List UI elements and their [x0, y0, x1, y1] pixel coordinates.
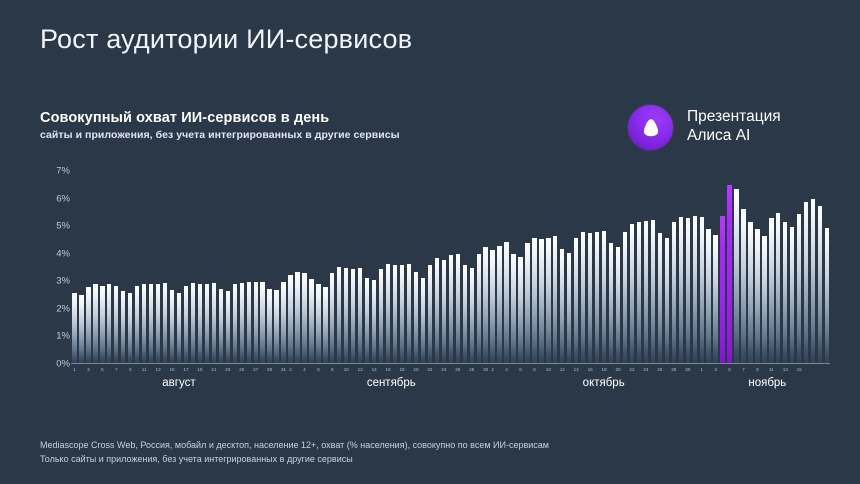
bar-slot[interactable] [740, 170, 747, 363]
bar[interactable] [693, 216, 697, 364]
bar[interactable] [497, 246, 501, 363]
bar-slot[interactable] [419, 170, 426, 363]
bar-slot[interactable] [712, 170, 719, 363]
bar-slot[interactable] [587, 170, 594, 363]
bar[interactable] [588, 233, 592, 363]
x-axis-tick [461, 366, 468, 376]
bar-slot[interactable] [378, 170, 385, 363]
bar[interactable] [219, 289, 223, 363]
bar-slot[interactable] [468, 170, 475, 363]
bar[interactable] [748, 222, 752, 363]
bar[interactable] [797, 214, 801, 363]
bar-slot[interactable] [461, 170, 468, 363]
bar[interactable] [804, 202, 808, 363]
x-axis-tick [747, 366, 754, 376]
bar-slot[interactable] [169, 170, 176, 363]
x-axis-tick: 2 [489, 366, 496, 376]
bar[interactable] [198, 284, 202, 363]
bar-slot[interactable] [273, 170, 280, 363]
bar-slot[interactable] [210, 170, 217, 363]
bar-slot[interactable] [503, 170, 510, 363]
bar[interactable] [755, 229, 759, 363]
bar-slot[interactable] [663, 170, 670, 363]
bar[interactable] [344, 268, 348, 363]
bar[interactable] [776, 213, 780, 363]
x-axis-tick [733, 366, 740, 376]
bar-slot[interactable] [134, 170, 141, 363]
alice-ai-logo-icon [628, 105, 673, 150]
bar-slot[interactable] [364, 170, 371, 363]
chart-heading: Совокупный охват ИИ-сервисов в день сайт… [40, 110, 400, 141]
bar[interactable] [630, 224, 634, 363]
footer-line-1: Mediascope Cross Web, Россия, мобайл и д… [40, 438, 549, 452]
bar[interactable] [435, 258, 439, 363]
bar[interactable] [734, 189, 738, 363]
x-axis-tick [677, 366, 684, 376]
bar-slot[interactable] [399, 170, 406, 363]
bar[interactable] [309, 279, 313, 363]
bar-slot[interactable] [580, 170, 587, 363]
bar-slot[interactable] [350, 170, 357, 363]
x-axis-tick: 29 [266, 366, 273, 376]
bar[interactable] [226, 291, 230, 363]
bar-slot[interactable] [127, 170, 134, 363]
x-axis-tick: 27 [252, 366, 259, 376]
bar-slot[interactable] [698, 170, 705, 363]
bar[interactable] [602, 231, 606, 363]
bar-slot[interactable] [649, 170, 656, 363]
bar[interactable] [483, 247, 487, 363]
x-axis-tick: 2 [287, 366, 294, 376]
bar[interactable] [72, 293, 76, 363]
x-axis-tick: 25 [238, 366, 245, 376]
bar-slot[interactable] [266, 170, 273, 363]
bar-slot[interactable] [782, 170, 789, 363]
bar-slot[interactable] [440, 170, 447, 363]
bar[interactable] [567, 253, 571, 363]
x-axis-tick: 9 [754, 366, 761, 376]
bar[interactable] [274, 290, 278, 363]
bar-slot[interactable] [196, 170, 203, 363]
bar-slot[interactable] [559, 170, 566, 363]
bar[interactable] [170, 290, 174, 363]
bar[interactable] [267, 289, 271, 363]
bar-slot[interactable] [252, 170, 259, 363]
legend-label-line2: Алиса AI [687, 126, 781, 145]
bar[interactable] [107, 284, 111, 363]
bar-slot[interactable] [608, 170, 615, 363]
bar[interactable] [135, 286, 139, 363]
bar-slot[interactable] [691, 170, 698, 363]
bar[interactable] [400, 265, 404, 363]
bar[interactable] [247, 282, 251, 363]
x-axis-tick [134, 366, 141, 376]
bar[interactable] [637, 222, 641, 363]
bar[interactable] [254, 282, 258, 363]
bar-slot[interactable] [524, 170, 531, 363]
x-axis-tick: 18 [601, 366, 608, 376]
x-axis-tick [622, 366, 629, 376]
bar-slot[interactable] [538, 170, 545, 363]
x-axis-tick [217, 366, 224, 376]
bar[interactable] [121, 291, 125, 363]
x-axis-tick: 5 [99, 366, 106, 376]
x-axis-tick [705, 366, 712, 376]
bar[interactable] [825, 228, 829, 363]
bar-slot[interactable] [622, 170, 629, 363]
bar-slot[interactable] [343, 170, 350, 363]
x-axis-tick [350, 366, 357, 376]
x-axis-tick: 13 [782, 366, 789, 376]
x-axis-line [71, 363, 830, 364]
bar[interactable] [205, 284, 209, 363]
x-axis-tick [635, 366, 642, 376]
bar[interactable] [679, 217, 683, 363]
month-label: октябрь [583, 377, 625, 389]
bar[interactable] [490, 250, 494, 363]
bar[interactable] [260, 282, 264, 363]
bar-slot[interactable] [224, 170, 231, 363]
bar[interactable] [365, 278, 369, 363]
bar[interactable] [790, 227, 794, 363]
x-axis-tick: 4 [503, 366, 510, 376]
bar-slot[interactable] [517, 170, 524, 363]
x-axis-tick [524, 366, 531, 376]
bar-slot[interactable] [183, 170, 190, 363]
bar[interactable] [456, 254, 460, 363]
x-axis-tick: 11 [141, 366, 148, 376]
x-axis-tick: 22 [426, 366, 433, 376]
bar-slot[interactable] [329, 170, 336, 363]
x-axis-tick [803, 366, 810, 376]
bar[interactable] [302, 273, 306, 363]
bar[interactable] [665, 238, 669, 363]
bar[interactable] [623, 232, 627, 363]
bar[interactable] [212, 283, 216, 363]
x-axis-tick: 11 [768, 366, 775, 376]
bar-slot[interactable] [162, 170, 169, 363]
bar[interactable] [316, 284, 320, 363]
bar-slot[interactable] [71, 170, 78, 363]
bar-slot[interactable] [656, 170, 663, 363]
bar-slot[interactable] [552, 170, 559, 363]
bar-slot[interactable] [496, 170, 503, 363]
bar-slot[interactable] [315, 170, 322, 363]
bar-slot[interactable] [635, 170, 642, 363]
bar[interactable] [644, 221, 648, 363]
bar-slot[interactable] [726, 170, 733, 363]
bar[interactable] [546, 238, 550, 363]
bar-slot[interactable] [371, 170, 378, 363]
bar[interactable] [281, 282, 285, 363]
bar-slot[interactable] [231, 170, 238, 363]
bar-slot[interactable] [566, 170, 573, 363]
x-axis-tick [203, 366, 210, 376]
bar-slot[interactable] [357, 170, 364, 363]
bar-slot[interactable] [824, 170, 831, 363]
bar[interactable] [358, 268, 362, 363]
bar-slot[interactable] [573, 170, 580, 363]
bar-slot[interactable] [677, 170, 684, 363]
y-axis-tick: 0% [56, 359, 70, 370]
x-axis-tick: 28 [468, 366, 475, 376]
x-axis-tick: 30 [684, 366, 691, 376]
bar-slot[interactable] [761, 170, 768, 363]
x-axis-tick: 19 [196, 366, 203, 376]
bar[interactable] [337, 267, 341, 364]
bar-slot[interactable] [294, 170, 301, 363]
bar[interactable] [672, 222, 676, 363]
bar-slot[interactable] [155, 170, 162, 363]
bar-slot[interactable] [85, 170, 92, 363]
bar[interactable] [114, 286, 118, 363]
bar[interactable] [379, 269, 383, 363]
bar-slot[interactable] [308, 170, 315, 363]
bar-slot[interactable] [684, 170, 691, 363]
bar[interactable] [706, 229, 710, 363]
bar[interactable] [372, 280, 376, 363]
bar-slot[interactable] [287, 170, 294, 363]
bar[interactable] [581, 232, 585, 363]
x-axis-tick: 26 [454, 366, 461, 376]
x-axis-tick [148, 366, 155, 376]
bar-slot[interactable] [817, 170, 824, 363]
bar-slot[interactable] [733, 170, 740, 363]
x-axis-tick [294, 366, 301, 376]
x-axis-tick: 12 [559, 366, 566, 376]
bar[interactable] [616, 247, 620, 363]
bar[interactable] [233, 284, 237, 363]
x-axis-tick [259, 366, 266, 376]
bar-slot[interactable] [238, 170, 245, 363]
bar-slot[interactable] [426, 170, 433, 363]
bar-slot[interactable] [385, 170, 392, 363]
bar[interactable] [504, 242, 508, 363]
bar-slot[interactable] [141, 170, 148, 363]
bar[interactable] [79, 295, 83, 363]
bar[interactable] [421, 278, 425, 363]
bar[interactable] [414, 272, 418, 363]
bar[interactable] [686, 218, 690, 363]
x-axis-tick: 12 [357, 366, 364, 376]
bar[interactable] [86, 287, 90, 363]
bar-slot[interactable] [629, 170, 636, 363]
bar-slot[interactable] [789, 170, 796, 363]
y-axis-tick: 5% [56, 221, 70, 232]
bar[interactable] [769, 218, 773, 363]
bar[interactable] [184, 286, 188, 363]
legend-label: Презентация Алиса AI [687, 105, 781, 145]
x-axis-tick [322, 366, 329, 376]
bar-slot[interactable] [545, 170, 552, 363]
bar-slot[interactable] [433, 170, 440, 363]
x-axis-tick [162, 366, 169, 376]
x-axis-tick: 10 [343, 366, 350, 376]
bar[interactable] [539, 239, 543, 363]
x-axis-tick [817, 366, 824, 376]
x-axis-tick [447, 366, 454, 376]
bar-slot[interactable] [615, 170, 622, 363]
y-axis-tick: 3% [56, 276, 70, 287]
bar-slot[interactable] [176, 170, 183, 363]
x-axis-tick [176, 366, 183, 376]
bar[interactable] [351, 269, 355, 363]
bar-slot[interactable] [203, 170, 210, 363]
bar-slot[interactable] [754, 170, 761, 363]
x-axis-tick [496, 366, 503, 376]
bar[interactable] [811, 199, 815, 363]
x-axis-tick: 10 [545, 366, 552, 376]
bar[interactable] [560, 249, 564, 363]
x-axis-tick: 1 [71, 366, 78, 376]
bar-slot[interactable] [78, 170, 85, 363]
bar[interactable] [762, 236, 766, 363]
x-axis-tick: 7 [740, 366, 747, 376]
bar[interactable] [177, 293, 181, 363]
bar-slot[interactable] [775, 170, 782, 363]
bar-slot[interactable] [245, 170, 252, 363]
bar[interactable] [511, 254, 515, 363]
bar-slot[interactable] [601, 170, 608, 363]
bar[interactable] [783, 222, 787, 363]
x-axis-tick: 13 [155, 366, 162, 376]
bar-slot[interactable] [705, 170, 712, 363]
x-axis-tick [245, 366, 252, 376]
bar-slot[interactable] [148, 170, 155, 363]
bar[interactable] [142, 284, 146, 363]
x-axis-month-labels: августсентябрьоктябрьноябрь [71, 377, 830, 393]
bar-slot[interactable] [106, 170, 113, 363]
bar-slot[interactable] [406, 170, 413, 363]
x-axis-tick: 8 [531, 366, 538, 376]
bar[interactable] [393, 265, 397, 363]
bar-slot[interactable] [454, 170, 461, 363]
x-axis-tick [364, 366, 371, 376]
bar-slot[interactable] [217, 170, 224, 363]
x-axis-tick [92, 366, 99, 376]
bar[interactable] [163, 283, 167, 363]
bar-slot[interactable] [189, 170, 196, 363]
bar-slot[interactable] [113, 170, 120, 363]
bar[interactable] [288, 275, 292, 363]
bar-chart: 0%1%2%3%4%5%6%7% 13579111315171921232527… [40, 170, 830, 370]
y-axis-tick: 6% [56, 193, 70, 204]
bar-slot[interactable] [392, 170, 399, 363]
bar[interactable] [323, 287, 327, 363]
bar[interactable] [713, 235, 717, 363]
bar-slot[interactable] [594, 170, 601, 363]
bar-slot[interactable] [719, 170, 726, 363]
bar-slot[interactable] [768, 170, 775, 363]
bar[interactable] [658, 233, 662, 363]
bar-highlighted[interactable] [720, 216, 724, 364]
bar-highlighted[interactable] [727, 185, 731, 363]
bar[interactable] [240, 283, 244, 363]
footer-line-2: Только сайты и приложения, без учета инт… [40, 452, 549, 466]
x-axis-tick: 4 [301, 366, 308, 376]
bar[interactable] [700, 217, 704, 363]
x-axis-tick [789, 366, 796, 376]
bar[interactable] [532, 238, 536, 363]
x-axis-tick: 24 [440, 366, 447, 376]
bar-slot[interactable] [280, 170, 287, 363]
bar[interactable] [100, 286, 104, 363]
bar-slot[interactable] [810, 170, 817, 363]
bar-slot[interactable] [510, 170, 517, 363]
bar-slot[interactable] [482, 170, 489, 363]
bar[interactable] [470, 268, 474, 363]
bar-slot[interactable] [322, 170, 329, 363]
bar[interactable] [156, 284, 160, 363]
bar[interactable] [609, 243, 613, 363]
x-axis-tick: 18 [399, 366, 406, 376]
bar[interactable] [191, 283, 195, 363]
x-axis-tick [775, 366, 782, 376]
bar[interactable] [386, 264, 390, 363]
bar-slot[interactable] [447, 170, 454, 363]
bar-slot[interactable] [475, 170, 482, 363]
bar[interactable] [149, 284, 153, 363]
bar-slot[interactable] [747, 170, 754, 363]
bar[interactable] [518, 257, 522, 363]
bar[interactable] [442, 260, 446, 363]
bar[interactable] [553, 236, 557, 363]
bar[interactable] [449, 255, 453, 363]
y-axis-tick: 1% [56, 331, 70, 342]
bar-slot[interactable] [531, 170, 538, 363]
bar-slot[interactable] [120, 170, 127, 363]
x-axis-tick [594, 366, 601, 376]
bar[interactable] [330, 273, 334, 363]
x-axis-tick [552, 366, 559, 376]
bar[interactable] [407, 264, 411, 363]
bar[interactable] [128, 293, 132, 363]
bar-slot[interactable] [412, 170, 419, 363]
x-axis-tick: 28 [670, 366, 677, 376]
bar-slot[interactable] [803, 170, 810, 363]
bar-slot[interactable] [489, 170, 496, 363]
bar[interactable] [741, 209, 745, 363]
bar[interactable] [295, 272, 299, 363]
bar[interactable] [525, 243, 529, 363]
x-axis-tick: 3 [712, 366, 719, 376]
x-axis-tick: 7 [113, 366, 120, 376]
y-axis-tick: 4% [56, 248, 70, 259]
page-title: Рост аудитории ИИ-сервисов [40, 24, 412, 55]
chart-subtitle: сайты и приложения, без учета интегриров… [40, 129, 400, 141]
bar[interactable] [595, 232, 599, 363]
x-axis-tick [336, 366, 343, 376]
bar-slot[interactable] [301, 170, 308, 363]
bar-slot[interactable] [92, 170, 99, 363]
bar-slot[interactable] [796, 170, 803, 363]
bar-slot[interactable] [642, 170, 649, 363]
bar[interactable] [477, 254, 481, 363]
bar-slot[interactable] [336, 170, 343, 363]
bar-slot[interactable] [259, 170, 266, 363]
bar[interactable] [428, 265, 432, 363]
footer-source-note: Mediascope Cross Web, Россия, мобайл и д… [40, 438, 549, 466]
bar[interactable] [574, 238, 578, 363]
bar-slot[interactable] [670, 170, 677, 363]
bar[interactable] [93, 284, 97, 363]
x-axis-tick: 3 [85, 366, 92, 376]
bar[interactable] [463, 265, 467, 363]
x-axis-day-ticks: 1357911131517192123252729312468101214161… [71, 366, 830, 376]
bar[interactable] [651, 220, 655, 363]
bar[interactable] [818, 206, 822, 363]
bar-slot[interactable] [99, 170, 106, 363]
